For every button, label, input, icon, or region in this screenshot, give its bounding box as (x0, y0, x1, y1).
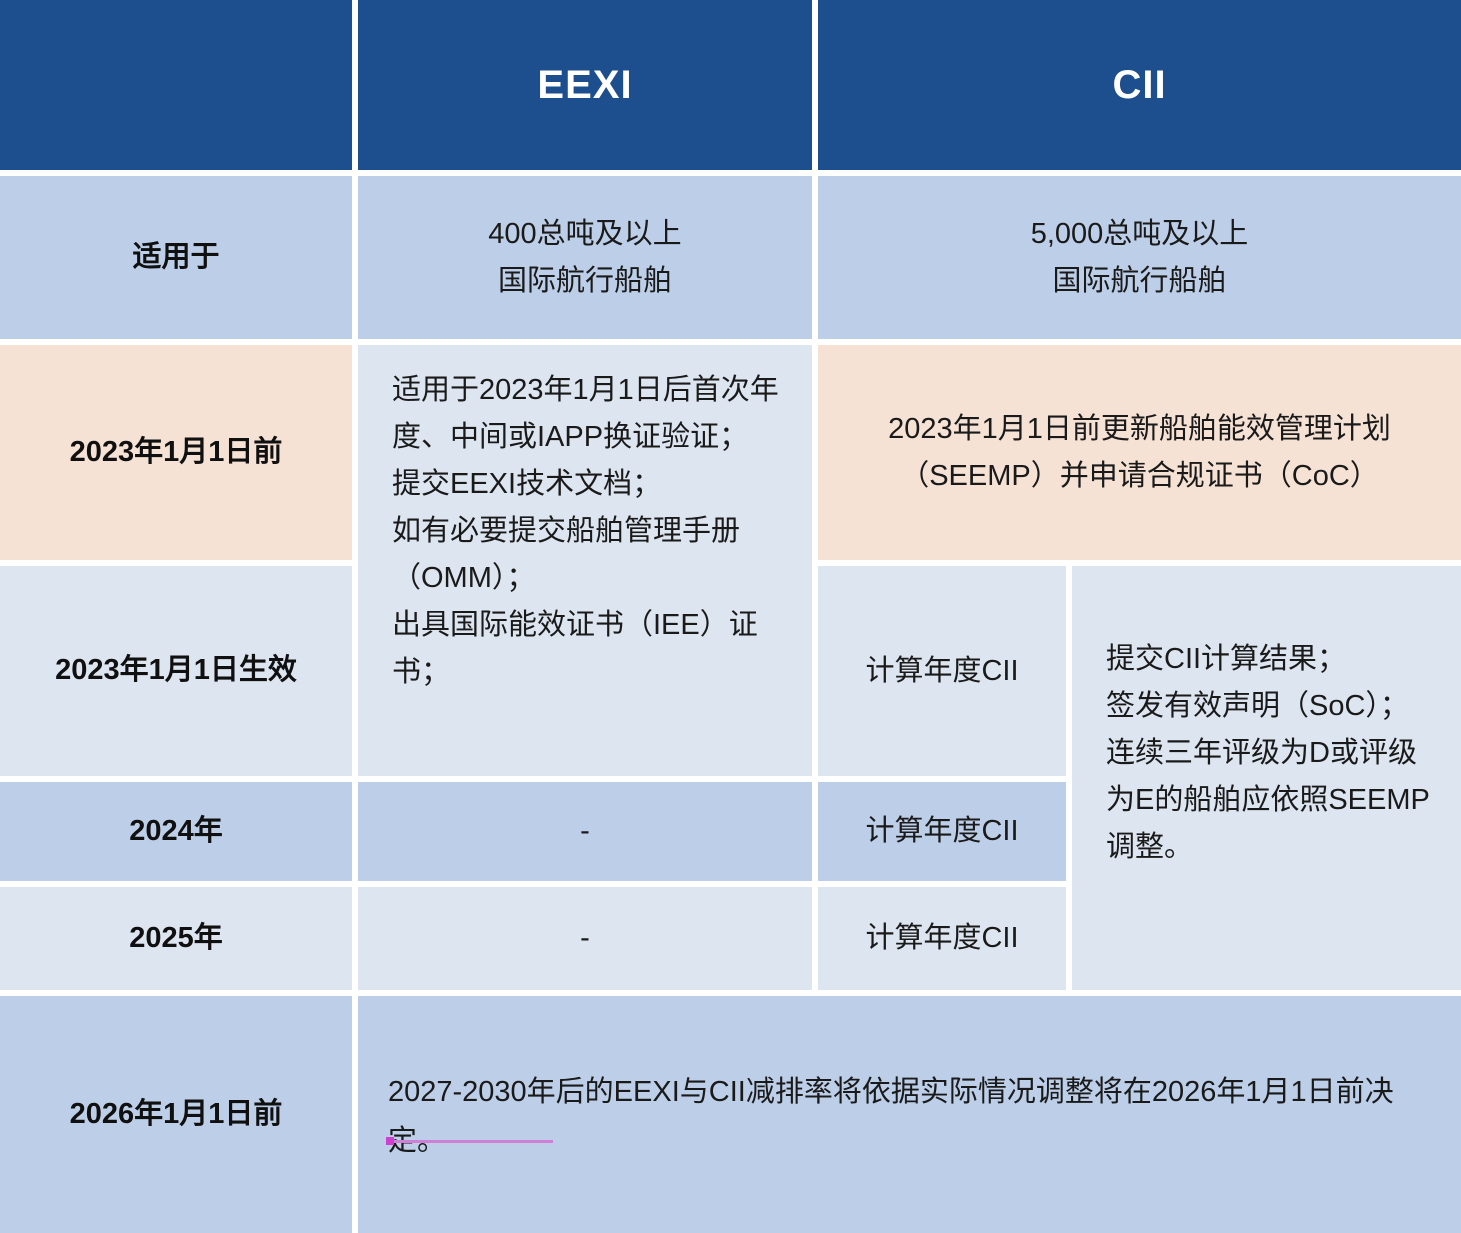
cell-eexi-2024-text: - (580, 815, 590, 848)
header-label-cii: CII (1112, 61, 1166, 109)
eexi-cii-timeline-table: EEXI CII 适用于 400总吨及以上 国际航行船舶 5,000总吨及以上 … (0, 0, 1461, 1233)
cell-cii-calc-2023-text: 计算年度CII (865, 648, 1018, 695)
row-label-text: 2025年 (129, 919, 223, 958)
magenta-handle-artifact (386, 1137, 394, 1145)
cell-note-2026-text: 2027-2030年后的EEXI与CII减排率将依据实际情况调整将在2026年1… (388, 1068, 1425, 1167)
header-cell-eexi: EEXI (358, 0, 812, 170)
cell-cii-requirements-text: 提交CII计算结果； 签发有效声明（SoC）； 连续三年评级为D或评级为E的船舶… (1106, 636, 1443, 871)
row-label-before-2023: 2023年1月1日前 (0, 345, 352, 560)
cell-note-2026-merged: 2027-2030年后的EEXI与CII减排率将依据实际情况调整将在2026年1… (358, 996, 1461, 1233)
cell-eexi-requirements-merged: 适用于2023年1月1日后首次年度、中间或IAPP换证验证； 提交EEXI技术文… (358, 345, 812, 776)
row-label-2025: 2025年 (0, 887, 352, 990)
cell-cii-before-2023: 2023年1月1日前更新船舶能效管理计划（SEEMP）并申请合规证书（CoC） (818, 345, 1461, 560)
row-label-text: 2023年1月1日生效 (55, 651, 297, 690)
row-label-text: 2026年1月1日前 (70, 1095, 283, 1134)
cell-eexi-requirements-text: 适用于2023年1月1日后首次年度、中间或IAPP换证验证； 提交EEXI技术文… (392, 367, 794, 696)
row-label-applicability: 适用于 (0, 176, 352, 339)
header-corner-cell (0, 0, 352, 170)
row-label-2024: 2024年 (0, 782, 352, 881)
cell-applicability-eexi-text: 400总吨及以上 国际航行船舶 (488, 211, 681, 305)
cell-cii-calc-2024-text: 计算年度CII (865, 808, 1018, 855)
row-label-text: 适用于 (132, 238, 219, 277)
magenta-underline-artifact (390, 1140, 553, 1143)
row-label-before-2026: 2026年1月1日前 (0, 996, 352, 1233)
row-label-text: 2023年1月1日前 (70, 433, 283, 472)
cell-eexi-2025-text: - (580, 922, 590, 955)
cell-cii-calc-2025-text: 计算年度CII (865, 915, 1018, 962)
cell-applicability-cii-text: 5,000总吨及以上 国际航行船舶 (1031, 211, 1249, 305)
cell-applicability-eexi: 400总吨及以上 国际航行船舶 (358, 176, 812, 339)
header-label-eexi: EEXI (537, 61, 632, 109)
cell-eexi-2025: - (358, 887, 812, 990)
cell-cii-requirements-merged: 提交CII计算结果； 签发有效声明（SoC）； 连续三年评级为D或评级为E的船舶… (1072, 566, 1461, 990)
cell-cii-calc-2023: 计算年度CII (818, 566, 1066, 776)
header-cell-cii: CII (818, 0, 1461, 170)
cell-cii-calc-2025: 计算年度CII (818, 887, 1066, 990)
row-label-effective-2023: 2023年1月1日生效 (0, 566, 352, 776)
row-label-text: 2024年 (129, 812, 223, 851)
cell-cii-calc-2024: 计算年度CII (818, 782, 1066, 881)
cell-applicability-cii: 5,000总吨及以上 国际航行船舶 (818, 176, 1461, 339)
cell-eexi-2024: - (358, 782, 812, 881)
cell-cii-before-2023-text: 2023年1月1日前更新船舶能效管理计划（SEEMP）并申请合规证书（CoC） (818, 406, 1461, 500)
